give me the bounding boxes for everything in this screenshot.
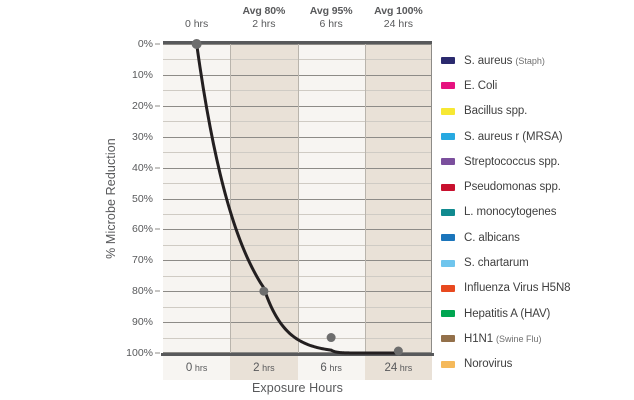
legend-swatch-icon-10 <box>441 310 455 317</box>
legend-swatch-icon-11 <box>441 335 455 342</box>
reduction-curve <box>163 44 432 353</box>
top-header-col-2: Avg 95%6 hrs <box>298 5 365 39</box>
legend-item-12[interactable]: Norovirus <box>441 352 631 377</box>
y-tickmark-0 <box>155 44 160 45</box>
legend-label-12: Norovirus <box>464 358 512 370</box>
legend-label-5: Pseudomonas spp. <box>464 181 561 193</box>
x-tick-unit-3: hrs <box>400 363 413 373</box>
x-tick-value-0: 0 <box>186 362 192 374</box>
legend-label-4: Streptococcus spp. <box>464 156 560 168</box>
y-axis-ticks: 0%10%20%30%40%50%60%70%80%90%100% <box>103 44 160 353</box>
legend-swatch-icon-6 <box>441 209 455 216</box>
legend-swatch-icon-9 <box>441 285 455 292</box>
legend-label-7: C. albicans <box>464 232 520 244</box>
legend-swatch-icon-1 <box>441 82 455 89</box>
legend-item-4[interactable]: Streptococcus spp. <box>441 149 631 174</box>
data-point-2hrs <box>259 287 268 296</box>
x-tick-unit-0: hrs <box>195 363 208 373</box>
legend-item-10[interactable]: Hepatitis A (HAV) <box>441 301 631 326</box>
legend-sublabel-0: (Staph) <box>515 56 545 66</box>
x-tick-3: 24hrs <box>365 356 432 380</box>
legend-label-10: Hepatitis A (HAV) <box>464 308 550 320</box>
data-point-6hrs <box>327 333 336 342</box>
x-axis-label: Exposure Hours <box>163 381 432 395</box>
legend-swatch-icon-0 <box>441 57 455 64</box>
x-tick-value-1: 2 <box>253 362 259 374</box>
top-average-header: 0 hrsAvg 80%2 hrsAvg 95%6 hrsAvg 100%24 … <box>163 5 432 39</box>
x-tick-value-3: 24 <box>384 362 397 374</box>
data-point-24hrs <box>394 347 403 356</box>
y-tick-label-100: 100% <box>126 348 153 359</box>
legend-item-11[interactable]: H1N1(Swine Flu) <box>441 326 631 351</box>
legend-item-3[interactable]: S. aureus r (MRSA) <box>441 124 631 149</box>
x-tick-unit-2: hrs <box>329 363 342 373</box>
data-point-0hrs <box>192 39 202 49</box>
y-tickmark-40 <box>155 167 160 168</box>
x-tick-1: 2hrs <box>230 356 297 380</box>
plot-area <box>163 44 432 353</box>
top-header-avg-1: Avg 80% <box>230 5 297 18</box>
legend-sublabel-11: (Swine Flu) <box>496 334 542 344</box>
legend-label-8: S. chartarum <box>464 257 529 269</box>
top-header-hrs-2: 6 hrs <box>298 18 365 31</box>
x-tick-value-2: 6 <box>320 362 326 374</box>
top-header-avg-2: Avg 95% <box>298 5 365 18</box>
top-header-hrs-0: 0 hrs <box>163 18 230 31</box>
y-tick-label-90: 90% <box>132 317 153 328</box>
x-tick-unit-1: hrs <box>262 363 275 373</box>
y-tickmark-80 <box>155 291 160 292</box>
legend-item-5[interactable]: Pseudomonas spp. <box>441 174 631 199</box>
legend-item-2[interactable]: Bacillus spp. <box>441 99 631 124</box>
y-tickmark-20 <box>155 105 160 106</box>
y-tick-label-60: 60% <box>132 224 153 235</box>
legend-swatch-icon-4 <box>441 158 455 165</box>
legend: S. aureus(Staph)E. ColiBacillus spp.S. a… <box>441 48 631 377</box>
legend-item-1[interactable]: E. Coli <box>441 73 631 98</box>
top-header-col-0: 0 hrs <box>163 5 230 39</box>
legend-label-9: Influenza Virus H5N8 <box>464 282 570 294</box>
x-axis-tick-band: 0hrs2hrs6hrs24hrs <box>163 356 432 380</box>
y-tickmark-100 <box>155 353 160 354</box>
legend-label-3: S. aureus r (MRSA) <box>464 131 563 143</box>
x-tick-0: 0hrs <box>163 356 230 380</box>
microbe-reduction-chart: 0 hrsAvg 80%2 hrsAvg 95%6 hrsAvg 100%24 … <box>0 0 634 400</box>
legend-item-0[interactable]: S. aureus(Staph) <box>441 48 631 73</box>
legend-swatch-icon-3 <box>441 133 455 140</box>
y-tick-label-70: 70% <box>132 255 153 266</box>
top-header-hrs-3: 24 hrs <box>365 18 432 31</box>
legend-label-0: S. aureus <box>464 55 512 67</box>
y-tick-label-40: 40% <box>132 162 153 173</box>
top-header-col-3: Avg 100%24 hrs <box>365 5 432 39</box>
y-tick-label-50: 50% <box>132 193 153 204</box>
legend-swatch-icon-7 <box>441 234 455 241</box>
legend-swatch-icon-5 <box>441 184 455 191</box>
top-header-hrs-1: 2 hrs <box>230 18 297 31</box>
legend-item-6[interactable]: L. monocytogenes <box>441 200 631 225</box>
legend-label-11: H1N1 <box>464 333 493 345</box>
y-tick-label-80: 80% <box>132 286 153 297</box>
top-header-avg-3: Avg 100% <box>365 5 432 18</box>
y-tickmark-60 <box>155 229 160 230</box>
legend-item-9[interactable]: Influenza Virus H5N8 <box>441 276 631 301</box>
x-tick-2: 6hrs <box>298 356 365 380</box>
legend-label-6: L. monocytogenes <box>464 206 556 218</box>
y-tick-label-0: 0% <box>138 39 153 50</box>
legend-label-2: Bacillus spp. <box>464 105 527 117</box>
legend-label-1: E. Coli <box>464 80 497 92</box>
legend-item-7[interactable]: C. albicans <box>441 225 631 250</box>
y-tick-label-30: 30% <box>132 131 153 142</box>
y-tick-label-10: 10% <box>132 70 153 81</box>
top-header-col-1: Avg 80%2 hrs <box>230 5 297 39</box>
legend-item-8[interactable]: S. chartarum <box>441 250 631 275</box>
legend-swatch-icon-2 <box>441 108 455 115</box>
legend-swatch-icon-12 <box>441 361 455 368</box>
y-tick-label-20: 20% <box>132 101 153 112</box>
legend-swatch-icon-8 <box>441 260 455 267</box>
